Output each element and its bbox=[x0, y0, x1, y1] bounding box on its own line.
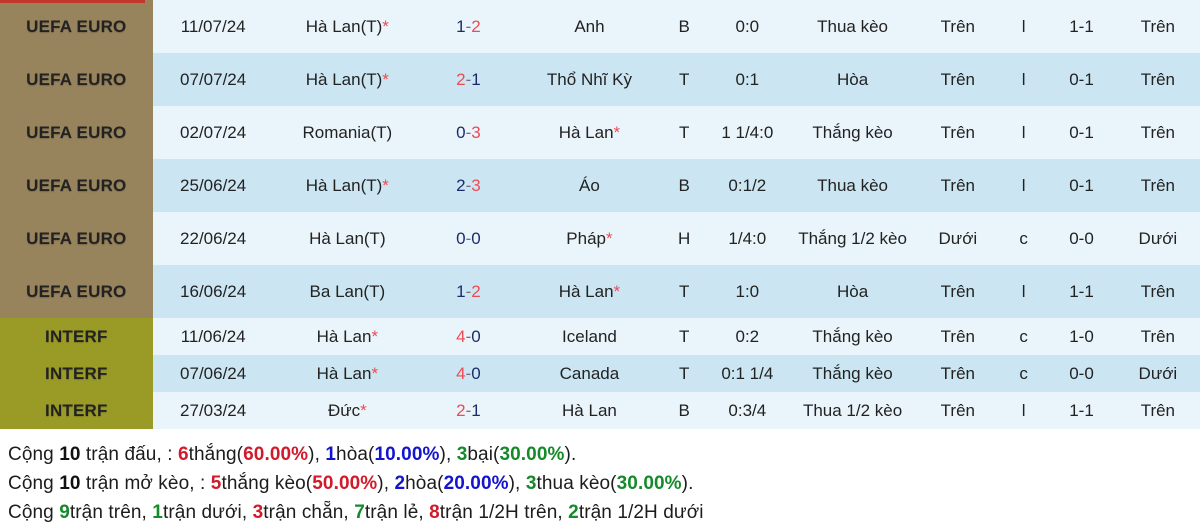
league-cell[interactable]: INTERF bbox=[0, 318, 153, 355]
s2-t2: trận mở kèo, : bbox=[81, 473, 211, 494]
away-team[interactable]: Anh bbox=[516, 0, 663, 53]
table-row[interactable]: INTERF11/06/24Hà Lan*4-0IcelandT0:2Thắng… bbox=[0, 318, 1200, 355]
over-under-result: Trên bbox=[916, 355, 1000, 392]
s2-n6: 3 bbox=[526, 473, 537, 494]
s2-t5: hòa( bbox=[405, 473, 443, 494]
away-team[interactable]: Áo bbox=[516, 159, 663, 212]
halftime-score: 1-0 bbox=[1047, 318, 1115, 355]
halftime-over-under: Dưới bbox=[1116, 355, 1200, 392]
score-away: 3 bbox=[471, 176, 480, 195]
match-date: 27/03/24 bbox=[153, 392, 274, 429]
match-date: 22/06/24 bbox=[153, 212, 274, 265]
handicap-result: Thắng 1/2 kèo bbox=[789, 212, 915, 265]
over-under-result: Trên bbox=[916, 265, 1000, 318]
away-star-icon: * bbox=[614, 123, 621, 142]
summary-line-2: Cộng 10 trận mở kèo, : 5thắng kèo(50.00%… bbox=[8, 470, 1200, 499]
handicap-result: Thắng kèo bbox=[789, 355, 915, 392]
home-team[interactable]: Đức* bbox=[274, 392, 421, 429]
halftime-over-under: Trên bbox=[1116, 318, 1200, 355]
s2-t3: thắng kèo( bbox=[221, 473, 312, 494]
home-star-icon: * bbox=[371, 364, 378, 383]
s2-n5: 20.00% bbox=[444, 473, 509, 494]
league-cell[interactable]: UEFA EURO bbox=[0, 265, 153, 318]
result-code: T bbox=[663, 318, 705, 355]
score-away: 2 bbox=[471, 282, 480, 301]
final-score: 1-2 bbox=[421, 0, 516, 53]
handicap-result: Thắng kèo bbox=[789, 318, 915, 355]
over-under-result: Dưới bbox=[916, 212, 1000, 265]
halftime-over-under: Trên bbox=[1116, 106, 1200, 159]
summary-line-3: Cộng 9trận trên, 1trận dưới, 3trận chẵn,… bbox=[8, 499, 1200, 528]
result-code: T bbox=[663, 53, 705, 106]
result-code: T bbox=[663, 355, 705, 392]
s3-t2: trận trên, bbox=[70, 502, 152, 523]
home-team[interactable]: Hà Lan* bbox=[274, 355, 421, 392]
score-home: 2 bbox=[456, 176, 465, 195]
away-star-icon: * bbox=[606, 229, 613, 248]
halftime-score: 0-0 bbox=[1047, 212, 1115, 265]
match-history-panel: UEFA EURO11/07/24Hà Lan(T)*1-2AnhB0:0Thu… bbox=[0, 0, 1200, 530]
odd-even-result: l bbox=[1000, 106, 1047, 159]
league-cell[interactable]: UEFA EURO bbox=[0, 0, 153, 53]
over-under-result: Trên bbox=[916, 159, 1000, 212]
halftime-over-under: Trên bbox=[1116, 265, 1200, 318]
match-date: 16/06/24 bbox=[153, 265, 274, 318]
table-row[interactable]: UEFA EURO16/06/24Ba Lan(T)1-2Hà Lan*T1:0… bbox=[0, 265, 1200, 318]
away-team[interactable]: Canada bbox=[516, 355, 663, 392]
s1-t7: bại( bbox=[467, 444, 499, 465]
home-star-icon: * bbox=[360, 401, 367, 420]
score-away: 2 bbox=[471, 17, 480, 36]
score-home: 1 bbox=[456, 17, 465, 36]
s1-t5: hòa( bbox=[336, 444, 374, 465]
s3-n3: 3 bbox=[253, 502, 264, 523]
odd-even-result: l bbox=[1000, 0, 1047, 53]
score-home: 2 bbox=[456, 401, 465, 420]
away-team[interactable]: Thổ Nhĩ Kỳ bbox=[516, 53, 663, 106]
home-star-icon: * bbox=[382, 70, 389, 89]
halftime-score: 0-0 bbox=[1047, 355, 1115, 392]
away-team[interactable]: Pháp* bbox=[516, 212, 663, 265]
final-score: 2-1 bbox=[421, 53, 516, 106]
handicap-line: 0:0 bbox=[705, 0, 789, 53]
s3-t3: trận dưới, bbox=[163, 502, 253, 523]
s1-t8: ). bbox=[565, 444, 577, 465]
halftime-over-under: Dưới bbox=[1116, 212, 1200, 265]
league-cell[interactable]: INTERF bbox=[0, 392, 153, 429]
halftime-over-under: Trên bbox=[1116, 159, 1200, 212]
s2-n2: 5 bbox=[211, 473, 222, 494]
odd-even-result: c bbox=[1000, 318, 1047, 355]
s2-n7: 30.00% bbox=[617, 473, 682, 494]
final-score: 4-0 bbox=[421, 355, 516, 392]
s3-t1: Cộng bbox=[8, 502, 59, 523]
halftime-over-under: Trên bbox=[1116, 53, 1200, 106]
final-score: 4-0 bbox=[421, 318, 516, 355]
match-date: 25/06/24 bbox=[153, 159, 274, 212]
match-date: 02/07/24 bbox=[153, 106, 274, 159]
s3-t4: trận chẵn, bbox=[263, 502, 354, 523]
s2-t1: Cộng bbox=[8, 473, 59, 494]
s1-t6: ), bbox=[440, 444, 457, 465]
final-score: 2-1 bbox=[421, 392, 516, 429]
s2-n4: 2 bbox=[394, 473, 405, 494]
over-under-result: Trên bbox=[916, 0, 1000, 53]
table-row[interactable]: UEFA EURO02/07/24Romania(T)0-3Hà Lan*T1 … bbox=[0, 106, 1200, 159]
top-accent-rule bbox=[0, 0, 145, 3]
result-code: T bbox=[663, 106, 705, 159]
halftime-score: 0-1 bbox=[1047, 159, 1115, 212]
s1-t1: Cộng bbox=[8, 444, 59, 465]
result-code: H bbox=[663, 212, 705, 265]
odd-even-result: c bbox=[1000, 212, 1047, 265]
score-home: 0 bbox=[456, 229, 465, 248]
odd-even-result: l bbox=[1000, 53, 1047, 106]
over-under-result: Trên bbox=[916, 106, 1000, 159]
s2-n1: 10 bbox=[59, 473, 80, 494]
match-date: 11/06/24 bbox=[153, 318, 274, 355]
s1-t4: ), bbox=[308, 444, 325, 465]
handicap-result: Thắng kèo bbox=[789, 106, 915, 159]
away-team[interactable]: Hà Lan* bbox=[516, 265, 663, 318]
over-under-result: Trên bbox=[916, 53, 1000, 106]
score-away: 1 bbox=[471, 70, 480, 89]
match-date: 07/07/24 bbox=[153, 53, 274, 106]
table-row[interactable]: UEFA EURO11/07/24Hà Lan(T)*1-2AnhB0:0Thu… bbox=[0, 0, 1200, 53]
handicap-line: 1 1/4:0 bbox=[705, 106, 789, 159]
s3-t5: trận lẻ, bbox=[365, 502, 429, 523]
score-away: 3 bbox=[471, 123, 480, 142]
odd-even-result: c bbox=[1000, 355, 1047, 392]
league-cell[interactable]: UEFA EURO bbox=[0, 159, 153, 212]
odd-even-result: l bbox=[1000, 392, 1047, 429]
s3-n4: 7 bbox=[354, 502, 365, 523]
table-row[interactable]: INTERF07/06/24Hà Lan*4-0CanadaT0:1 1/4Th… bbox=[0, 355, 1200, 392]
s2-t8: ). bbox=[682, 473, 694, 494]
match-date: 11/07/24 bbox=[153, 0, 274, 53]
s3-t6: trận 1/2H trên, bbox=[440, 502, 568, 523]
final-score: 0-3 bbox=[421, 106, 516, 159]
halftime-score: 1-1 bbox=[1047, 392, 1115, 429]
halftime-over-under: Trên bbox=[1116, 392, 1200, 429]
handicap-line: 0:1 bbox=[705, 53, 789, 106]
home-star-icon: * bbox=[382, 17, 389, 36]
final-score: 1-2 bbox=[421, 265, 516, 318]
score-home: 4 bbox=[456, 327, 465, 346]
home-team[interactable]: Hà Lan(T)* bbox=[274, 53, 421, 106]
score-home: 4 bbox=[456, 364, 465, 383]
s3-n6: 2 bbox=[568, 502, 579, 523]
score-away: 0 bbox=[471, 364, 480, 383]
summary-block: Cộng 10 trận đấu, : 6thắng(60.00%), 1hòa… bbox=[0, 437, 1200, 530]
handicap-line: 0:2 bbox=[705, 318, 789, 355]
s2-t7: thua kèo( bbox=[536, 473, 616, 494]
halftime-score: 1-1 bbox=[1047, 265, 1115, 318]
home-team[interactable]: Hà Lan(T)* bbox=[274, 0, 421, 53]
home-star-icon: * bbox=[371, 327, 378, 346]
handicap-result: Hòa bbox=[789, 265, 915, 318]
table-row[interactable]: UEFA EURO25/06/24Hà Lan(T)*2-3ÁoB0:1/2Th… bbox=[0, 159, 1200, 212]
home-team[interactable]: Hà Lan(T)* bbox=[274, 159, 421, 212]
score-away: 0 bbox=[471, 229, 480, 248]
halftime-over-under: Trên bbox=[1116, 0, 1200, 53]
match-date: 07/06/24 bbox=[153, 355, 274, 392]
table-row[interactable]: UEFA EURO22/06/24Hà Lan(T)0-0Pháp*H1/4:0… bbox=[0, 212, 1200, 265]
handicap-line: 1/4:0 bbox=[705, 212, 789, 265]
s1-n2: 6 bbox=[178, 444, 189, 465]
s1-n1: 10 bbox=[59, 444, 80, 465]
s1-t2: trận đấu, : bbox=[81, 444, 178, 465]
result-code: B bbox=[663, 159, 705, 212]
halftime-score: 0-1 bbox=[1047, 53, 1115, 106]
home-team[interactable]: Romania(T) bbox=[274, 106, 421, 159]
handicap-result: Thua kèo bbox=[789, 159, 915, 212]
s3-n5: 8 bbox=[429, 502, 440, 523]
over-under-result: Trên bbox=[916, 392, 1000, 429]
table-row[interactable]: INTERF27/03/24Đức*2-1Hà LanB0:3/4Thua 1/… bbox=[0, 392, 1200, 429]
match-rows: UEFA EURO11/07/24Hà Lan(T)*1-2AnhB0:0Thu… bbox=[0, 0, 1200, 429]
score-home: 1 bbox=[456, 282, 465, 301]
s1-n6: 3 bbox=[457, 444, 468, 465]
handicap-line: 0:1/2 bbox=[705, 159, 789, 212]
result-code: B bbox=[663, 392, 705, 429]
s1-n5: 10.00% bbox=[374, 444, 439, 465]
handicap-line: 1:0 bbox=[705, 265, 789, 318]
result-code: B bbox=[663, 0, 705, 53]
result-code: T bbox=[663, 265, 705, 318]
home-team[interactable]: Ba Lan(T) bbox=[274, 265, 421, 318]
s3-t7: trận 1/2H dưới bbox=[579, 502, 704, 523]
s1-n3: 60.00% bbox=[243, 444, 308, 465]
score-away: 1 bbox=[471, 401, 480, 420]
handicap-result: Hòa bbox=[789, 53, 915, 106]
away-star-icon: * bbox=[614, 282, 621, 301]
league-cell[interactable]: UEFA EURO bbox=[0, 212, 153, 265]
score-home: 0 bbox=[456, 123, 465, 142]
handicap-result: Thua 1/2 kèo bbox=[789, 392, 915, 429]
halftime-score: 0-1 bbox=[1047, 106, 1115, 159]
match-history-table: UEFA EURO11/07/24Hà Lan(T)*1-2AnhB0:0Thu… bbox=[0, 0, 1200, 429]
league-cell[interactable]: INTERF bbox=[0, 355, 153, 392]
away-team[interactable]: Iceland bbox=[516, 318, 663, 355]
home-team[interactable]: Hà Lan(T) bbox=[274, 212, 421, 265]
odd-even-result: l bbox=[1000, 159, 1047, 212]
handicap-line: 0:3/4 bbox=[705, 392, 789, 429]
handicap-result: Thua kèo bbox=[789, 0, 915, 53]
home-team[interactable]: Hà Lan* bbox=[274, 318, 421, 355]
league-cell[interactable]: UEFA EURO bbox=[0, 106, 153, 159]
s3-n1: 9 bbox=[59, 502, 70, 523]
odd-even-result: l bbox=[1000, 265, 1047, 318]
table-row[interactable]: UEFA EURO07/07/24Hà Lan(T)*2-1Thổ Nhĩ Kỳ… bbox=[0, 53, 1200, 106]
home-star-icon: * bbox=[382, 176, 389, 195]
s1-t3: thắng( bbox=[189, 444, 243, 465]
score-home: 2 bbox=[456, 70, 465, 89]
s2-t4: ), bbox=[377, 473, 394, 494]
over-under-result: Trên bbox=[916, 318, 1000, 355]
handicap-line: 0:1 1/4 bbox=[705, 355, 789, 392]
final-score: 0-0 bbox=[421, 212, 516, 265]
score-away: 0 bbox=[471, 327, 480, 346]
away-team[interactable]: Hà Lan* bbox=[516, 106, 663, 159]
s3-n2: 1 bbox=[152, 502, 163, 523]
away-team[interactable]: Hà Lan bbox=[516, 392, 663, 429]
league-cell[interactable]: UEFA EURO bbox=[0, 53, 153, 106]
summary-line-1: Cộng 10 trận đấu, : 6thắng(60.00%), 1hòa… bbox=[8, 441, 1200, 470]
s1-n4: 1 bbox=[325, 444, 336, 465]
halftime-score: 1-1 bbox=[1047, 0, 1115, 53]
s2-n3: 50.00% bbox=[312, 473, 377, 494]
final-score: 2-3 bbox=[421, 159, 516, 212]
s1-n7: 30.00% bbox=[499, 444, 564, 465]
s2-t6: ), bbox=[509, 473, 526, 494]
